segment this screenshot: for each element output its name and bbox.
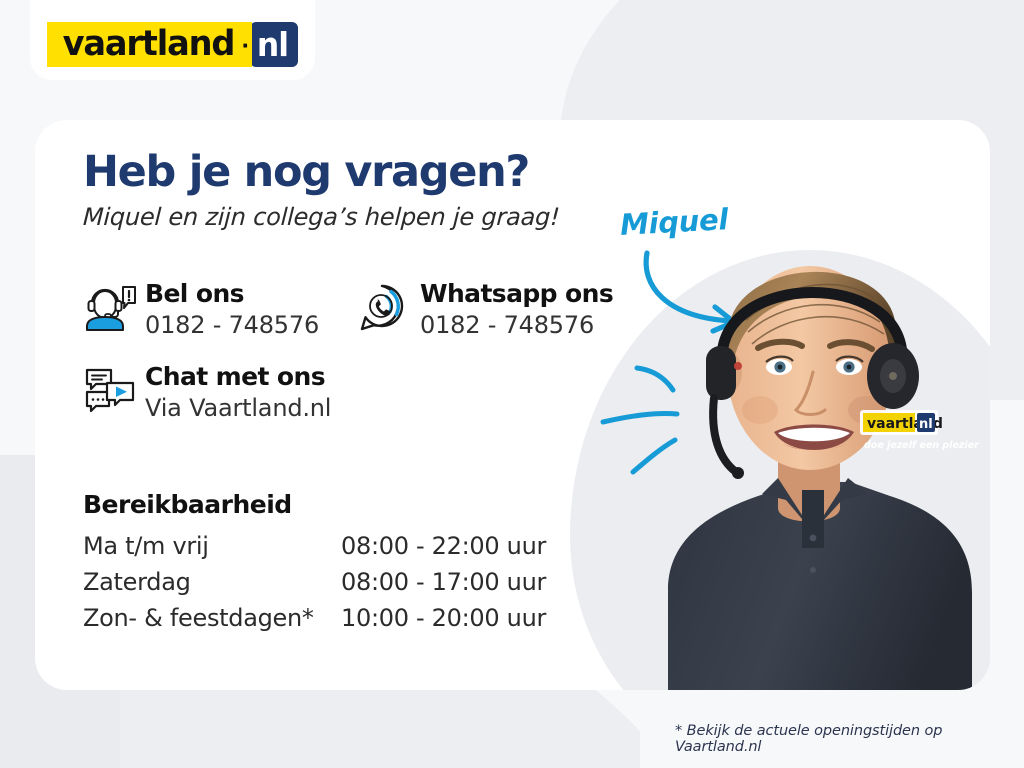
logo-navy-block: nl — [250, 22, 298, 67]
opening-hours-time: 10:00 - 20:00 uur — [341, 604, 546, 632]
footnote-text: * Bekijk de actuele openingstijden op Va… — [675, 723, 1024, 755]
opening-hours-day: Zaterdag — [83, 568, 341, 596]
svg-text:nl: nl — [919, 417, 933, 432]
contact-chat-text: Chat met ons Via Vaartland.nl — [141, 363, 331, 422]
contact-call-value[interactable]: 0182 - 748576 — [145, 312, 319, 340]
vaartland-logo[interactable]: vaartland · nl — [47, 22, 298, 67]
hero-text-block: Heb je nog vragen? Miquel en zijn colleg… — [83, 150, 663, 231]
contact-whatsapp-title: Whatsapp ons — [420, 280, 613, 309]
contact-call-text: Bel ons 0182 - 748576 — [141, 280, 319, 339]
logo-tld: nl — [257, 28, 288, 61]
opening-hours-time: 08:00 - 22:00 uur — [341, 532, 546, 560]
contact-whatsapp-value[interactable]: 0182 - 748576 — [420, 312, 613, 340]
logo-card[interactable]: vaartland · nl — [30, 0, 315, 80]
opening-hours: Bereikbaarheid Ma t/m vrij 08:00 - 22:00… — [83, 490, 603, 640]
promo-banner: vaartland · nl Heb je nog vragen? Miquel… — [0, 0, 1024, 768]
page-title: Heb je nog vragen? — [83, 150, 663, 195]
opening-hours-row: Zaterdag 08:00 - 17:00 uur — [83, 568, 603, 596]
logo-wordmark: vaartland — [62, 27, 234, 62]
svg-text:doe jezelf een plezier: doe jezelf een plezier — [864, 440, 980, 451]
contact-chat-title: Chat met ons — [145, 363, 331, 392]
contact-chat-value[interactable]: Via Vaartland.nl — [145, 395, 331, 423]
contact-call-title: Bel ons — [145, 280, 319, 309]
page-subtitle: Miquel en zijn collega’s helpen je graag… — [82, 203, 663, 231]
headset-person-icon — [83, 280, 141, 336]
chat-bubbles-icon — [83, 363, 141, 421]
logo-yellow-block: vaartland — [47, 22, 246, 67]
opening-hours-time: 08:00 - 17:00 uur — [341, 568, 546, 596]
agent-photo-area: Miquel — [590, 120, 990, 690]
logo-dot-separator: · — [242, 22, 253, 67]
opening-hours-row: Ma t/m vrij 08:00 - 22:00 uur — [83, 532, 603, 560]
opening-hours-row: Zon- & feestdagen* 10:00 - 20:00 uur — [83, 604, 603, 632]
opening-hours-day: Ma t/m vrij — [83, 532, 341, 560]
main-content-card: Heb je nog vragen? Miquel en zijn colleg… — [35, 120, 990, 690]
contact-item-call[interactable]: Bel ons 0182 - 748576 — [83, 280, 358, 339]
contact-whatsapp-text: Whatsapp ons 0182 - 748576 — [416, 280, 613, 339]
agent-photo: vaartland nl doe jezelf een plezier — [650, 160, 980, 690]
opening-hours-title: Bereikbaarheid — [83, 490, 603, 519]
whatsapp-icon — [358, 280, 416, 338]
opening-hours-day: Zon- & feestdagen* — [83, 604, 341, 632]
